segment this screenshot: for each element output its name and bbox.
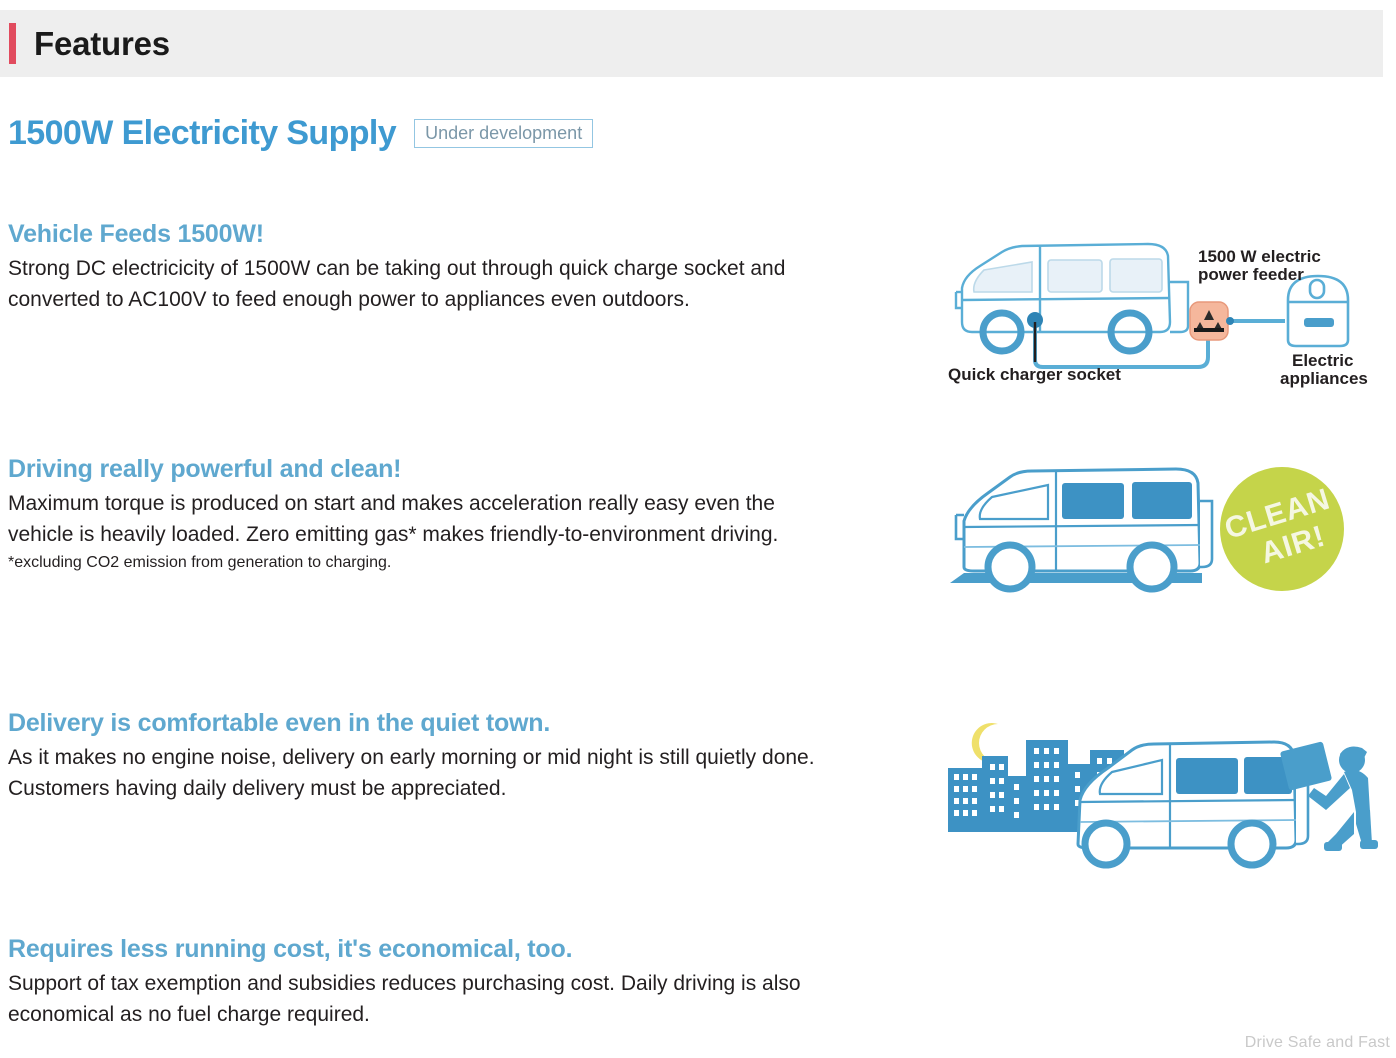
feature-block-1: Vehicle Feeds 1500W! Strong DC electrici…: [8, 220, 838, 315]
header-accent-bar: [9, 23, 16, 64]
van-windows: [974, 259, 1162, 292]
feature-title-row: 1500W Electricity Supply Under developme…: [8, 116, 593, 150]
watermark-text: Drive Safe and Fast: [1245, 1034, 1390, 1052]
feature-heading-2: Driving really powerful and clean!: [8, 455, 838, 484]
feature-block-2: Driving really powerful and clean! Maxim…: [8, 455, 838, 574]
appliances-label-line1: Electric: [1292, 351, 1353, 370]
illustration-van-power-feeder: 1500 W electric power feeder Quick charg…: [940, 222, 1390, 392]
feature-block-4: Requires less running cost, it's economi…: [8, 935, 838, 1030]
feature-block-3: Delivery is comfortable even in the quie…: [8, 709, 838, 804]
feeder-label-line2: power feeder: [1198, 265, 1304, 284]
feature-heading-4: Requires less running cost, it's economi…: [8, 935, 838, 964]
power-feeder-icon: [1190, 302, 1228, 340]
socket-label: Quick charger socket: [948, 365, 1121, 384]
feature-body-4: Support of tax exemption and subsidies r…: [8, 968, 838, 1030]
appliances-label-line2: appliances: [1280, 369, 1368, 388]
feature-body-1: Strong DC electricicity of 1500W can be …: [8, 253, 838, 315]
section-header: Features: [0, 10, 1383, 77]
feature-body-3: As it makes no engine noise, delivery on…: [8, 742, 838, 804]
appliance-display: [1304, 318, 1334, 327]
clean-air-badge: CLEAN AIR!: [1220, 467, 1344, 591]
feature-body-2: Maximum torque is produced on start and …: [8, 488, 838, 550]
illustration-night-delivery: [940, 712, 1390, 872]
feature-heading-3: Delivery is comfortable even in the quie…: [8, 709, 838, 738]
cable-connector-dot: [1226, 317, 1234, 325]
feature-main-title: 1500W Electricity Supply: [8, 116, 396, 150]
feature-heading-1: Vehicle Feeds 1500W!: [8, 220, 838, 249]
electric-appliance-icon: [1288, 276, 1348, 346]
feeder-label-line1: 1500 W electric: [1198, 247, 1321, 266]
feature-note-2: *excluding CO2 emission from generation …: [8, 552, 838, 574]
status-badge: Under development: [414, 119, 593, 148]
cable-path: [1035, 322, 1208, 367]
page-title: Features: [34, 27, 170, 60]
illustration-van-clean-air: CLEAN AIR!: [940, 455, 1390, 605]
